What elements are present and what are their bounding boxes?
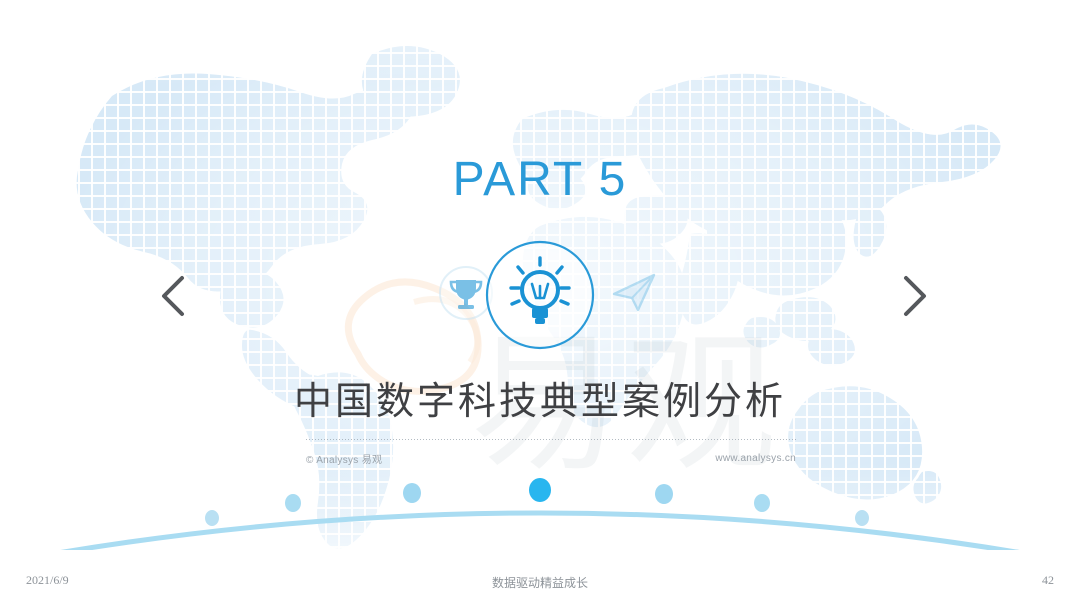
slide-footer: 2021/6/9 数据驱动精益成长 42 bbox=[0, 562, 1080, 608]
footer-tagline: 数据驱动精益成长 bbox=[0, 574, 1080, 591]
paper-plane-icon bbox=[608, 268, 660, 316]
progress-dot[interactable] bbox=[754, 494, 770, 512]
progress-dot[interactable] bbox=[205, 510, 219, 526]
part-label: PART 5 bbox=[0, 152, 1080, 207]
credit-website[interactable]: www.analysys.cn bbox=[715, 453, 796, 464]
divider bbox=[306, 439, 796, 440]
progress-dots bbox=[205, 478, 869, 526]
progress-dot[interactable] bbox=[655, 484, 673, 504]
lightbulb-icon bbox=[485, 240, 595, 350]
progress-arc bbox=[0, 455, 1080, 550]
progress-dot[interactable] bbox=[855, 510, 869, 526]
footer-page-number: 42 bbox=[1042, 573, 1054, 588]
credit-row: © Analysys 易观 www.analysys.cn bbox=[306, 451, 796, 466]
credit-copyright: © Analysys 易观 bbox=[306, 451, 382, 466]
progress-dot[interactable] bbox=[403, 483, 421, 503]
section-icon-cluster bbox=[0, 240, 1080, 350]
slide-canvas: 易观 PART 5 bbox=[0, 0, 1080, 608]
page-title: 中国数字科技典型案例分析 bbox=[0, 370, 1080, 425]
arc-line bbox=[0, 513, 1080, 550]
progress-dot-active[interactable] bbox=[529, 478, 551, 502]
progress-dot[interactable] bbox=[285, 494, 301, 512]
